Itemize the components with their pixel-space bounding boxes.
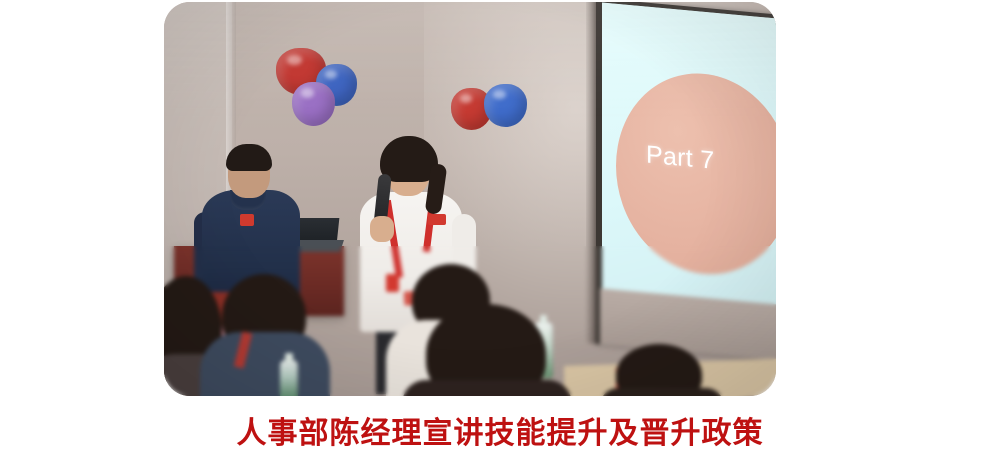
female-presenter-shirt-logo bbox=[428, 214, 446, 225]
water-bottle bbox=[280, 360, 298, 396]
projector-screen: Part 7 bbox=[596, 2, 776, 361]
slide-title: Part 7 bbox=[646, 141, 715, 176]
female-presenter-left-hand bbox=[370, 216, 394, 242]
audience-member-body bbox=[402, 380, 572, 396]
presentation-photo: Part 7 bbox=[164, 2, 776, 396]
photo-caption: 人事部陈经理宣讲技能提升及晋升政策 bbox=[0, 408, 1000, 452]
male-presenter-logo-badge bbox=[240, 214, 254, 226]
audience-member-body bbox=[600, 388, 724, 396]
screen-surface: Part 7 bbox=[602, 3, 776, 310]
male-presenter-hair bbox=[226, 144, 272, 171]
audience-member-body bbox=[200, 332, 330, 396]
balloon-purple-left bbox=[292, 82, 335, 126]
balloon-blue-center bbox=[484, 84, 527, 127]
figure-container: Part 7 bbox=[0, 0, 1000, 453]
female-presenter-id-badge bbox=[386, 274, 399, 292]
screen-edge-shadow bbox=[586, 2, 596, 344]
